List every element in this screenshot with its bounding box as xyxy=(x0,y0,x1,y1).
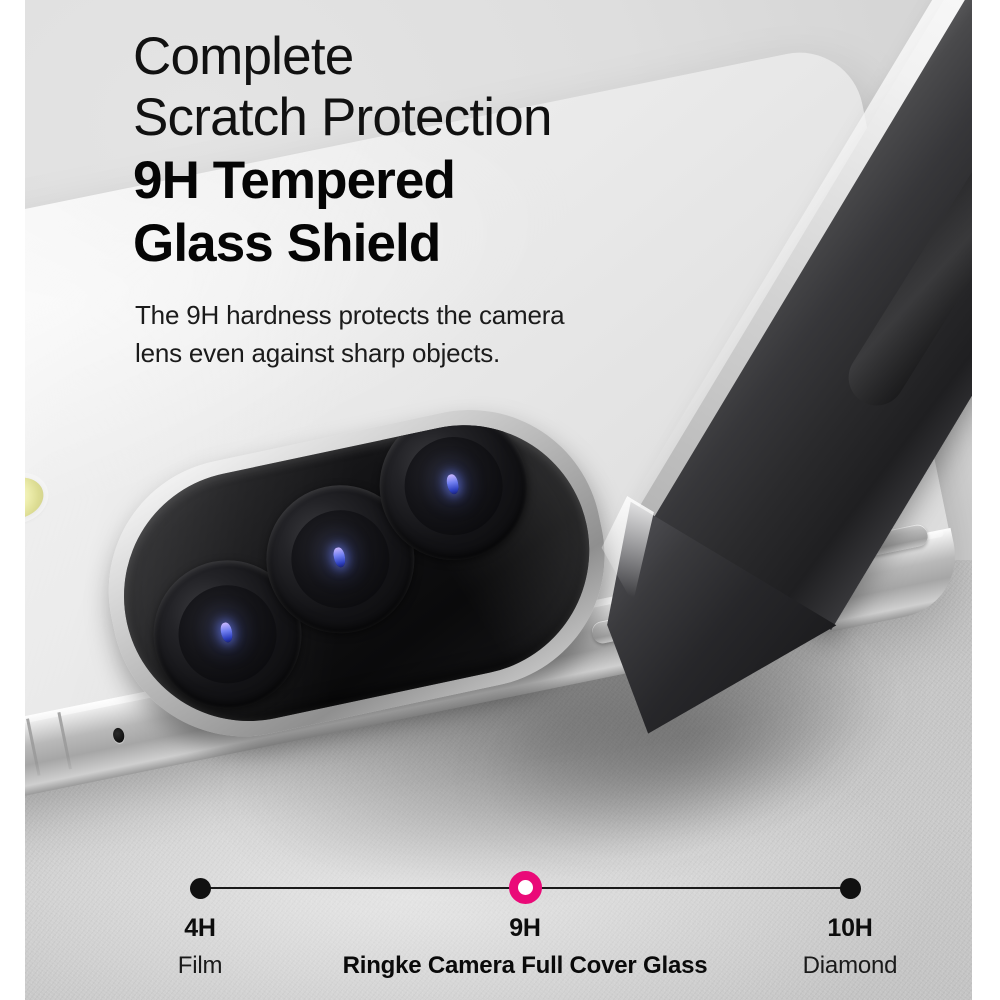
scale-marker-10h xyxy=(840,878,861,899)
scale-name-diamond: Diamond xyxy=(803,952,898,980)
scale-value-10h: 10H xyxy=(827,914,872,943)
headline-line-4: Glass Shield xyxy=(133,213,753,274)
headline-line-1: Complete xyxy=(133,26,753,87)
headline-block: Complete Scratch Protection 9H Tempered … xyxy=(133,26,753,372)
headline-line-3: 9H Tempered xyxy=(133,150,753,211)
scale-value-4h: 4H xyxy=(184,914,216,943)
product-feature-poster: Complete Scratch Protection 9H Tempered … xyxy=(0,0,1000,1000)
hardness-scale: 4H 9H 10H Film Ringke Camera Full Cover … xyxy=(175,866,875,986)
scale-name-film: Film xyxy=(178,952,223,980)
scale-marker-4h xyxy=(190,878,211,899)
photo-scene: Complete Scratch Protection 9H Tempered … xyxy=(25,0,972,1000)
headline-line-2: Scratch Protection xyxy=(133,87,753,148)
scale-value-9h: 9H xyxy=(509,914,541,943)
scale-marker-9h xyxy=(509,871,542,904)
scale-name-ringke: Ringke Camera Full Cover Glass xyxy=(343,952,708,980)
body-copy: The 9H hardness protects the camera lens… xyxy=(135,296,605,372)
